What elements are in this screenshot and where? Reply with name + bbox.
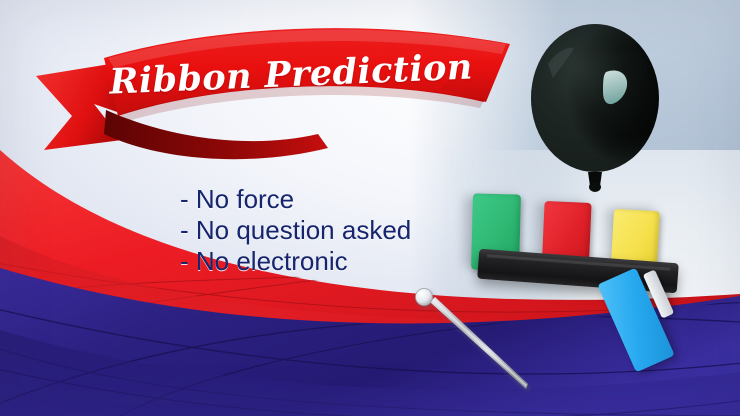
bullet-item-1: - No force (180, 184, 411, 215)
bullet-list: - No force - No question asked - No elec… (180, 184, 411, 277)
black-balloon (524, 20, 674, 205)
bullet-item-3: - No electronic (180, 246, 411, 277)
ribbon-right-notch (420, 18, 530, 163)
metal-wand-pointer (408, 288, 588, 408)
bullet-item-2: - No question asked (180, 215, 411, 246)
slide-canvas: Ribbon Prediction - No force - No questi… (0, 0, 740, 416)
